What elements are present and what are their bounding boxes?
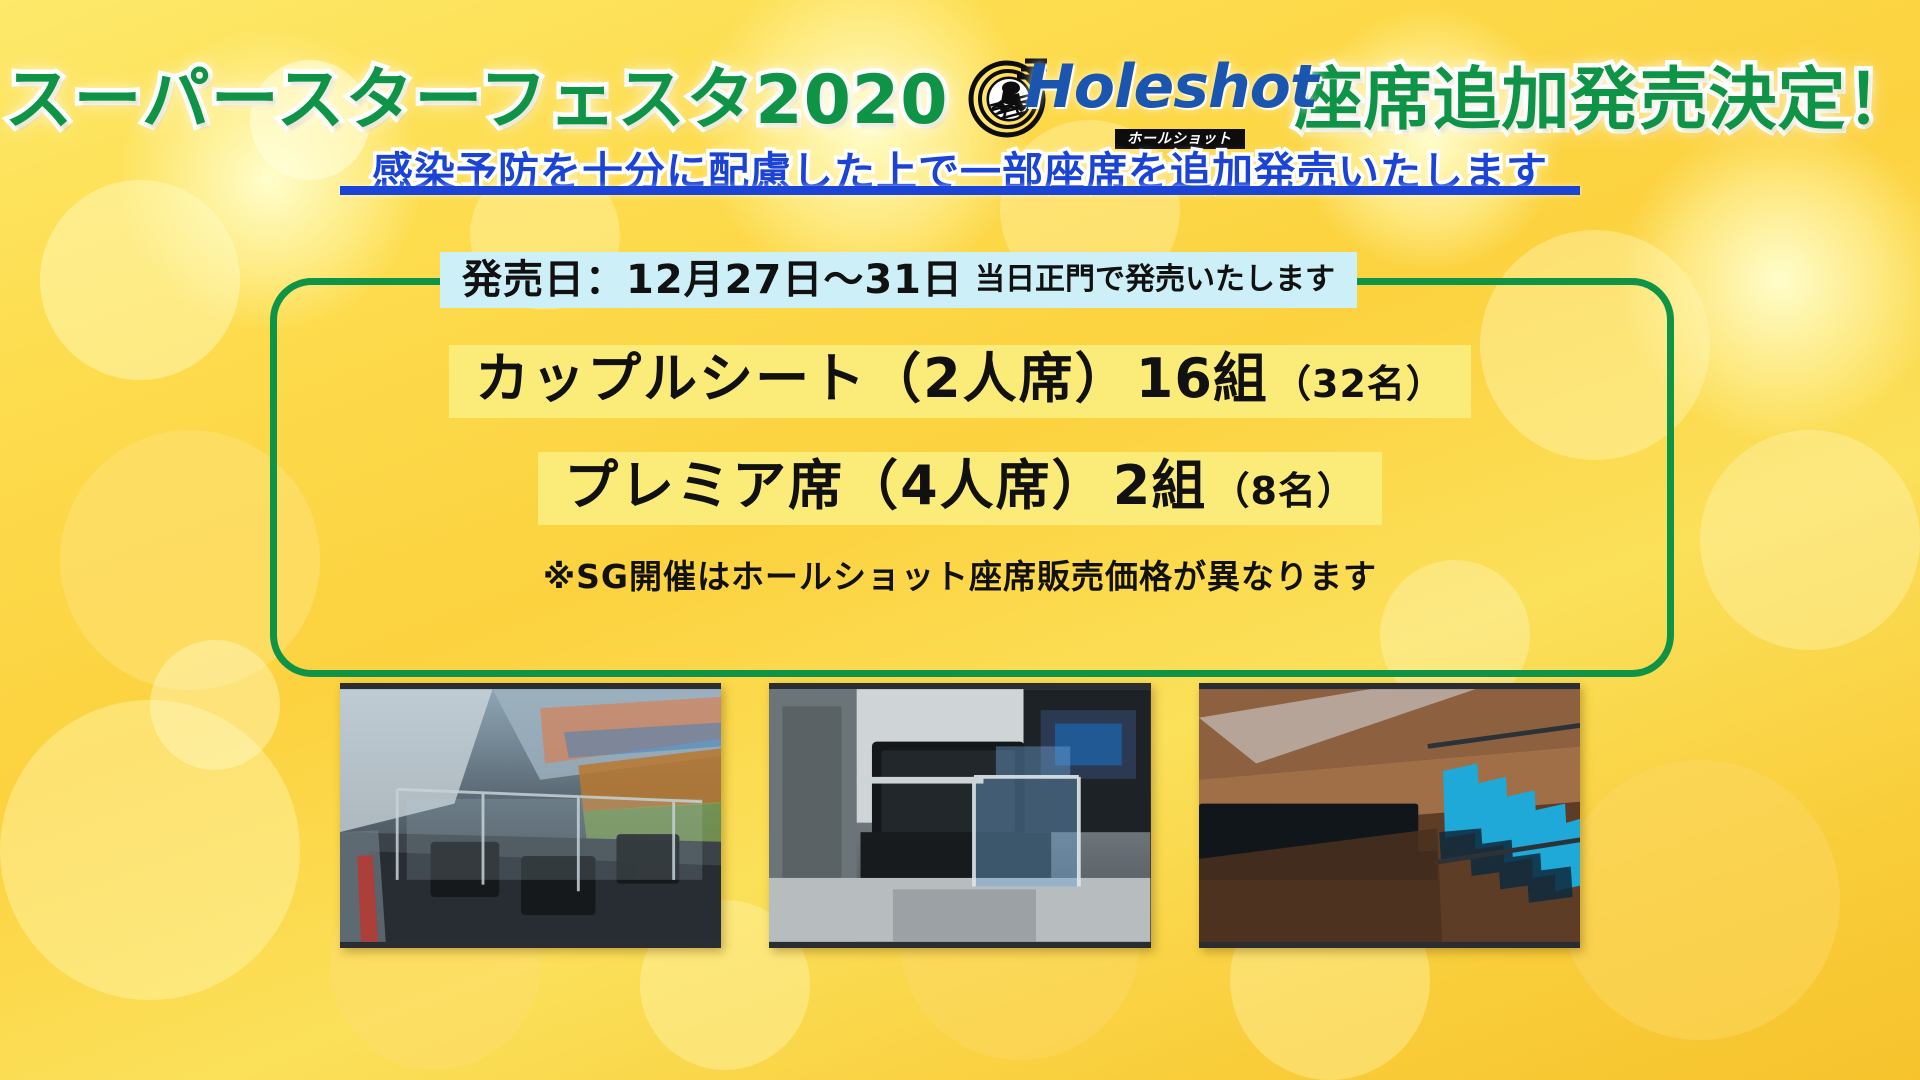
photo-premium-booth	[769, 683, 1150, 948]
seat-people: （32名）	[1273, 362, 1445, 406]
photo-blue-seats	[1199, 683, 1580, 948]
subtitle-underline	[340, 186, 1580, 195]
holeshot-logo: Holeshot ホールショット	[963, 49, 1281, 153]
logo-kana-text: ホールショット	[1115, 129, 1245, 149]
seat-count: 16組	[1136, 347, 1268, 410]
price-note-text: ※SG開催はホールショット座席販売価格が異なります	[543, 557, 1377, 596]
page-title-left: スーパースターフェスタ2020	[4, 67, 948, 135]
poster-root: スーパースターフェスタ2020	[0, 0, 1920, 1080]
seat-name: プレミア席（4人席）	[564, 454, 1108, 517]
seat-name: カップルシート（2人席）	[475, 347, 1131, 410]
seat-row-couple: カップルシート（2人席） 16組 （32名）	[0, 345, 1920, 418]
release-date-bar: 発売日：12月27日〜31日 当日正門で発売いたします	[440, 252, 1357, 308]
seat-band: カップルシート（2人席） 16組 （32名）	[449, 345, 1471, 418]
photo-strip	[340, 683, 1580, 948]
seat-count: 2組	[1113, 454, 1207, 517]
photo-velodrome-seating	[340, 683, 721, 948]
header: スーパースターフェスタ2020	[0, 46, 1920, 156]
seat-row-premium: プレミア席（4人席） 2組 （8名）	[0, 452, 1920, 525]
release-date-sub: 当日正門で発売いたします	[975, 265, 1335, 295]
price-note: ※SG開催はホールショット座席販売価格が異なります	[0, 550, 1920, 598]
logo-wordmark: Holeshot	[1025, 57, 1318, 117]
release-date-main: 発売日：12月27日〜31日	[462, 260, 963, 300]
seat-people: （8名）	[1211, 469, 1355, 513]
page-title-right: 座席追加発売決定！	[1295, 67, 1916, 135]
seat-band: プレミア席（4人席） 2組 （8名）	[538, 452, 1382, 525]
